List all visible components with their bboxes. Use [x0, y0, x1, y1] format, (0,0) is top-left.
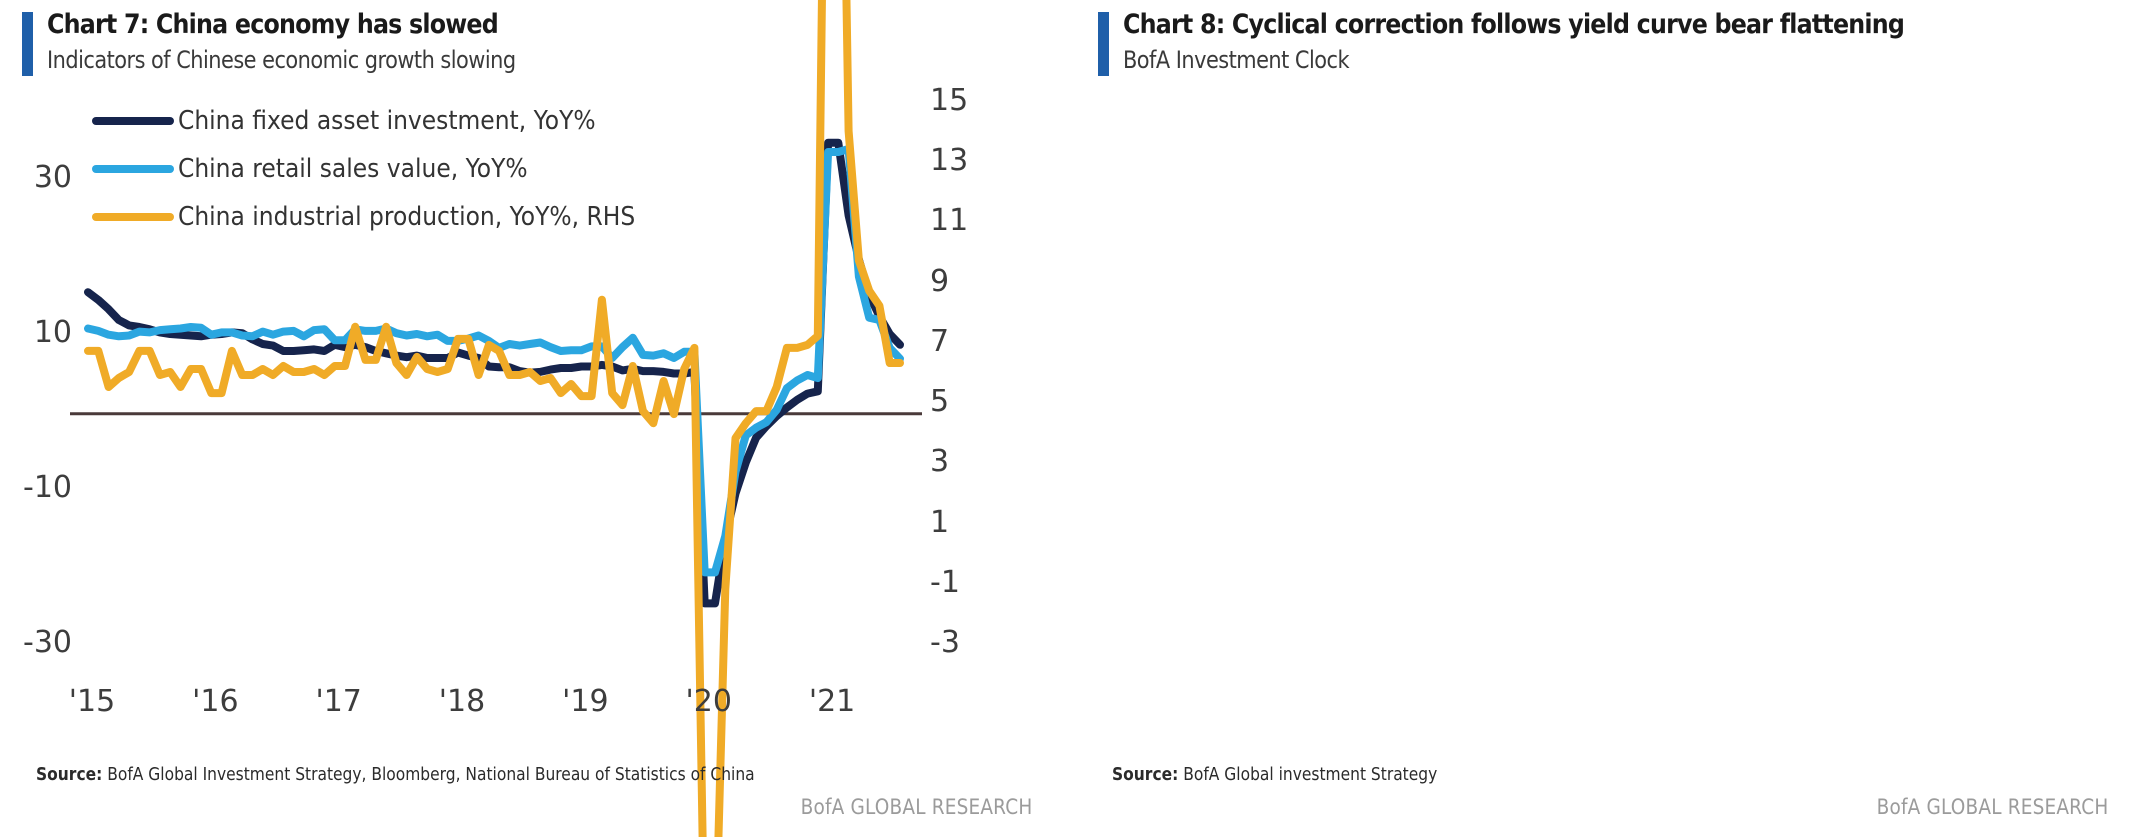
x-axis-tick: '21	[804, 684, 860, 719]
chart-7-title: Chart 7: China economy has slowed	[47, 8, 521, 42]
legend-label: China industrial production, YoY%, RHS	[178, 202, 635, 232]
legend-item[interactable]: China industrial production, YoY%, RHS	[92, 202, 686, 232]
y-axis-left-tick: -30	[0, 625, 72, 660]
chart-7-source-label: Source:	[36, 764, 102, 785]
chart-8-panel: Chart 8: Cyclical correction follows yie…	[1076, 0, 2152, 837]
chart-7-source: Source: BofA Global Investment Strategy,…	[36, 764, 755, 785]
legend-label: China fixed asset investment, YoY%	[178, 106, 596, 136]
y-axis-right-tick: 1	[930, 505, 1000, 540]
chart-7-plot: China fixed asset investment, YoY%China …	[0, 86, 1060, 716]
y-axis-right-tick: 13	[930, 143, 1000, 178]
x-axis-tick: '19	[557, 684, 613, 719]
x-axis-tick: '18	[434, 684, 490, 719]
chart-8-title: Chart 8: Cyclical correction follows yie…	[1123, 8, 1904, 42]
chart-8-source-value: BofA Global investment Strategy	[1183, 764, 1437, 785]
page-root: Chart 7: China economy has slowed Indica…	[0, 0, 2152, 837]
legend-label: China retail sales value, YoY%	[178, 154, 528, 184]
y-axis-right-tick: 15	[930, 83, 1000, 118]
y-axis-left-tick: -10	[0, 470, 72, 505]
legend-swatch	[92, 213, 174, 221]
chart-8-source: Source: BofA Global investment Strategy	[1112, 764, 1437, 785]
chart-8-brand: BofA GLOBAL RESEARCH	[1876, 795, 2108, 819]
chart-7-header: Chart 7: China economy has slowed Indica…	[22, 8, 586, 76]
legend-item[interactable]: China fixed asset investment, YoY%	[92, 106, 642, 136]
chart-8-header: Chart 8: Cyclical correction follows yie…	[1098, 8, 2011, 76]
x-axis-tick: '16	[187, 684, 243, 719]
y-axis-right-tick: 9	[930, 264, 1000, 299]
x-axis-tick: '20	[681, 684, 737, 719]
y-axis-right-tick: 11	[930, 203, 1000, 238]
legend-swatch	[92, 165, 174, 173]
chart-7-subtitle: Indicators of Chinese economic growth sl…	[47, 44, 516, 76]
y-axis-right-tick: -3	[930, 625, 1000, 660]
legend-swatch	[92, 117, 174, 125]
y-axis-right-tick: 7	[930, 324, 1000, 359]
chart-7-accent-bar	[22, 12, 33, 76]
y-axis-right-tick: -1	[930, 565, 1000, 600]
y-axis-left-tick: 10	[0, 315, 72, 350]
chart-7-source-value: BofA Global Investment Strategy, Bloombe…	[107, 764, 754, 785]
y-axis-left-tick: 30	[0, 160, 72, 195]
x-axis-tick: '17	[311, 684, 367, 719]
y-axis-right-tick: 3	[930, 444, 1000, 479]
x-axis-tick: '15	[64, 684, 120, 719]
chart-8-subtitle: BofA Investment Clock	[1123, 44, 1895, 76]
chart-8-accent-bar	[1098, 12, 1109, 76]
chart-7-panel: Chart 7: China economy has slowed Indica…	[0, 0, 1076, 837]
legend-item[interactable]: China retail sales value, YoY%	[92, 154, 566, 184]
chart-7-brand: BofA GLOBAL RESEARCH	[800, 795, 1032, 819]
chart-8-source-label: Source:	[1112, 764, 1178, 785]
y-axis-right-tick: 5	[930, 384, 1000, 419]
